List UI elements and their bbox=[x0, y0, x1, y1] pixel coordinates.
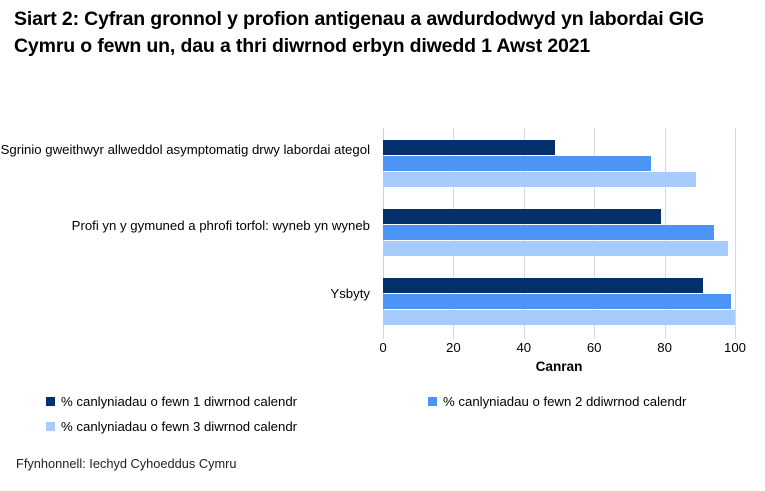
legend-item-series2[interactable]: % canlyniadau o fewn 2 ddiwrnod calendr bbox=[428, 393, 686, 410]
page-title: Siart 2: Cyfran gronnol y profion antige… bbox=[14, 6, 756, 60]
x-tick-label: 80 bbox=[645, 340, 685, 356]
x-tick-label: 100 bbox=[715, 340, 755, 356]
bar-chart: Sgrinio gweithwyr allweddol asymptomatig… bbox=[0, 128, 765, 360]
x-tick-mark bbox=[735, 335, 736, 339]
x-tick-label: 20 bbox=[433, 340, 473, 356]
x-tick-label: 60 bbox=[574, 340, 614, 356]
bar-series1-profi-cymuned[interactable] bbox=[383, 209, 661, 224]
chart-legend: % canlyniadau o fewn 1 diwrnod calendr %… bbox=[0, 390, 765, 442]
legend-swatch-icon bbox=[46, 422, 55, 431]
legend-swatch-icon bbox=[46, 397, 55, 406]
x-axis-title: Canran bbox=[383, 359, 735, 374]
gridline bbox=[735, 128, 736, 335]
bar-series1-sgrinio[interactable] bbox=[383, 140, 555, 155]
legend-item-series3[interactable]: % canlyniadau o fewn 3 diwrnod calendr bbox=[46, 418, 297, 435]
category-label-ysbyty: Ysbyty bbox=[0, 285, 370, 302]
bar-series2-profi-cymuned[interactable] bbox=[383, 225, 714, 240]
category-label-sgrinio: Sgrinio gweithwyr allweddol asymptomatig… bbox=[0, 141, 370, 158]
bar-series2-sgrinio[interactable] bbox=[383, 156, 651, 171]
legend-label-series1: % canlyniadau o fewn 1 diwrnod calendr bbox=[61, 393, 297, 410]
source-note: Ffynhonnell: Iechyd Cyhoeddus Cymru bbox=[16, 456, 237, 471]
bar-series3-sgrinio[interactable] bbox=[383, 172, 696, 187]
x-tick-mark bbox=[665, 335, 666, 339]
x-tick-label: 40 bbox=[504, 340, 544, 356]
bar-series1-ysbyty[interactable] bbox=[383, 278, 703, 293]
x-tick-mark bbox=[524, 335, 525, 339]
legend-label-series3: % canlyniadau o fewn 3 diwrnod calendr bbox=[61, 418, 297, 435]
x-tick-mark bbox=[383, 335, 384, 339]
plot-area bbox=[383, 128, 735, 335]
bar-series3-profi-cymuned[interactable] bbox=[383, 241, 728, 256]
x-tick-mark bbox=[453, 335, 454, 339]
x-tick-label: 0 bbox=[363, 340, 403, 356]
category-label-profi-cymuned: Profi yn y gymuned a phrofi torfol: wyne… bbox=[0, 217, 370, 234]
bar-series2-ysbyty[interactable] bbox=[383, 294, 731, 309]
legend-label-series2: % canlyniadau o fewn 2 ddiwrnod calendr bbox=[443, 393, 686, 410]
legend-swatch-icon bbox=[428, 397, 437, 406]
category-axis-labels: Sgrinio gweithwyr allweddol asymptomatig… bbox=[0, 128, 374, 335]
legend-item-series1[interactable]: % canlyniadau o fewn 1 diwrnod calendr bbox=[46, 393, 297, 410]
bar-series3-ysbyty[interactable] bbox=[383, 310, 735, 325]
x-tick-mark bbox=[594, 335, 595, 339]
